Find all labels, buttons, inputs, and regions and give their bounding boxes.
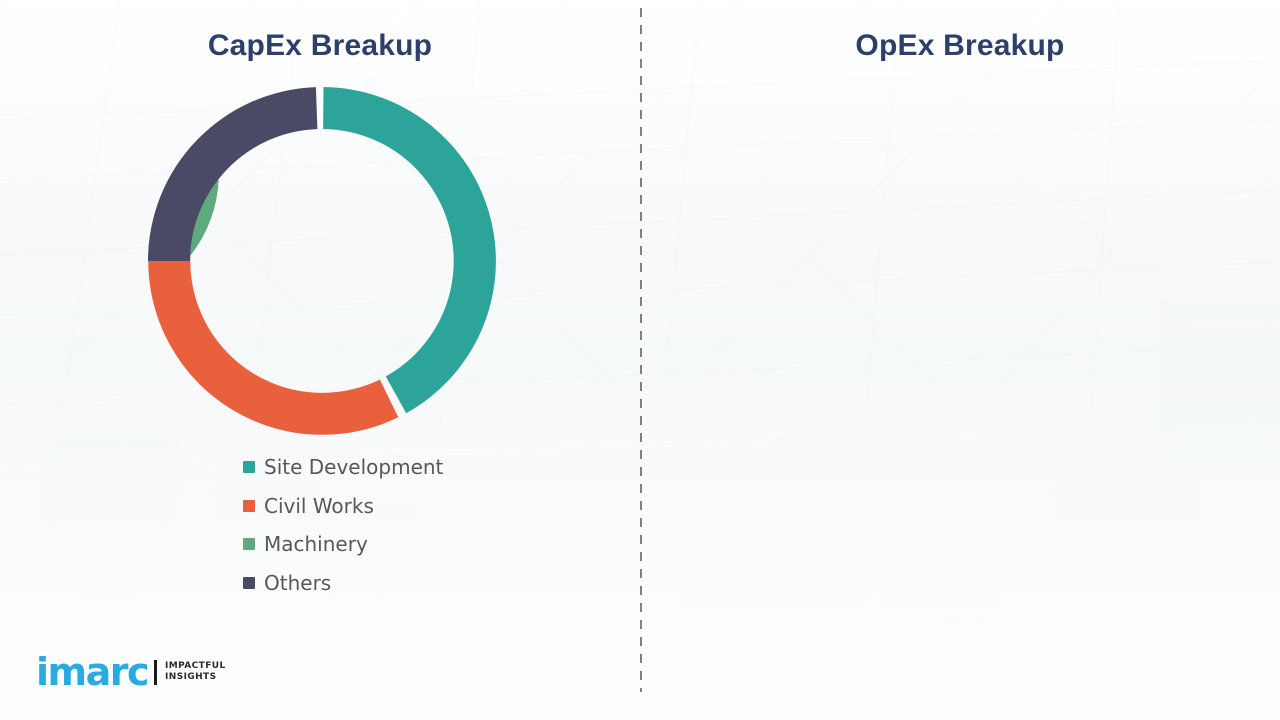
legend-swatch-machinery [243, 538, 255, 550]
logo-tagline: IMPACTFUL INSIGHTS [165, 661, 226, 683]
capex-chart-title: CapEx Breakup [0, 25, 640, 67]
capex-legend: Site Development Civil Works Machinery O… [243, 448, 443, 602]
legend-swatch-site-development [243, 461, 255, 473]
legend-swatch-others [243, 577, 255, 589]
vertical-dashed-divider [640, 8, 642, 692]
opex-chart-title: OpEx Breakup [640, 25, 1280, 67]
logo-tagline-line1: IMPACTFUL [165, 661, 226, 672]
logo-divider-bar [154, 660, 157, 685]
capex-slice-others[interactable] [148, 87, 317, 261]
capex-donut-svg [147, 86, 497, 436]
capex-donut-chart [147, 86, 497, 436]
legend-label-civil-works: Civil Works [264, 494, 374, 518]
capex-panel: CapEx Breakup Site Development Civil Wor… [0, 0, 640, 720]
legend-label-site-development: Site Development [264, 455, 443, 479]
capex-slice-site-development[interactable] [323, 87, 496, 413]
legend-item[interactable]: Others [243, 564, 443, 603]
legend-label-machinery: Machinery [264, 532, 368, 556]
imarc-wordmark: imarc [36, 653, 148, 691]
legend-item[interactable]: Site Development [243, 448, 443, 487]
legend-label-others: Others [264, 571, 331, 595]
imarc-logo[interactable]: imarc IMPACTFUL INSIGHTS [36, 652, 226, 692]
capex-slices [148, 87, 496, 435]
legend-swatch-civil-works [243, 500, 255, 512]
opex-panel: OpEx Breakup Raw Mate [640, 0, 1280, 720]
legend-item[interactable]: Machinery [243, 525, 443, 564]
legend-item[interactable]: Civil Works [243, 487, 443, 526]
logo-tagline-line2: INSIGHTS [165, 672, 226, 683]
